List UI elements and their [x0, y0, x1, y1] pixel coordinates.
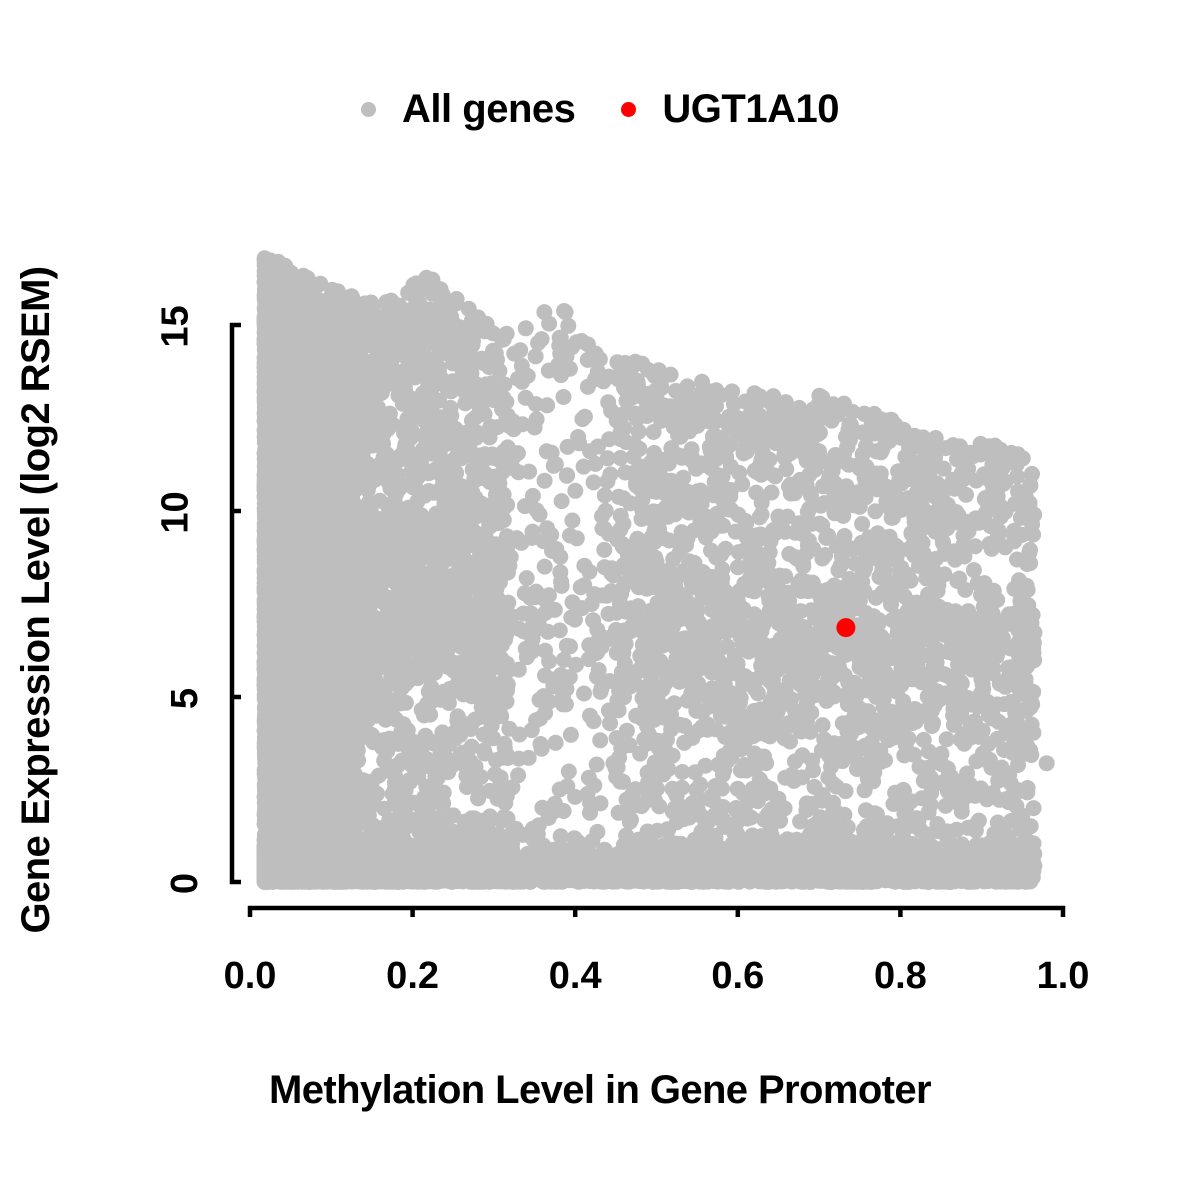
x-tick-label-2: 0.4: [549, 955, 602, 998]
plot-canvas: [0, 0, 1200, 1200]
x-tick-label-1: 0.2: [386, 955, 439, 998]
y-tick-label-10: 10: [155, 491, 198, 533]
x-axis-line: [250, 908, 1063, 917]
x-tick-label-0: 0.0: [224, 955, 277, 998]
y-axis-line: [232, 325, 241, 882]
x-tick-label-3: 0.6: [711, 955, 764, 998]
highlighted-point-ugt1a10: [836, 618, 855, 637]
data-points-layer: [257, 250, 1055, 890]
outlier-point: [1039, 755, 1055, 771]
y-tick-label-15: 15: [155, 305, 198, 347]
x-axis-title: Methylation Level in Gene Promoter: [0, 1068, 1200, 1113]
x-tick-label-5: 1.0: [1037, 955, 1090, 998]
scatter-plot-figure: All genes UGT1A10 0.0 0.2 0.4 0.6 0.8 1.…: [0, 0, 1200, 1200]
x-tick-label-4: 0.8: [874, 955, 927, 998]
y-axis-title: Gene Expression Level (log2 RSEM): [0, 0, 72, 1200]
highlight-point-layer: [836, 618, 855, 637]
y-tick-label-5: 5: [164, 688, 207, 709]
y-tick-label-0: 0: [164, 873, 207, 894]
